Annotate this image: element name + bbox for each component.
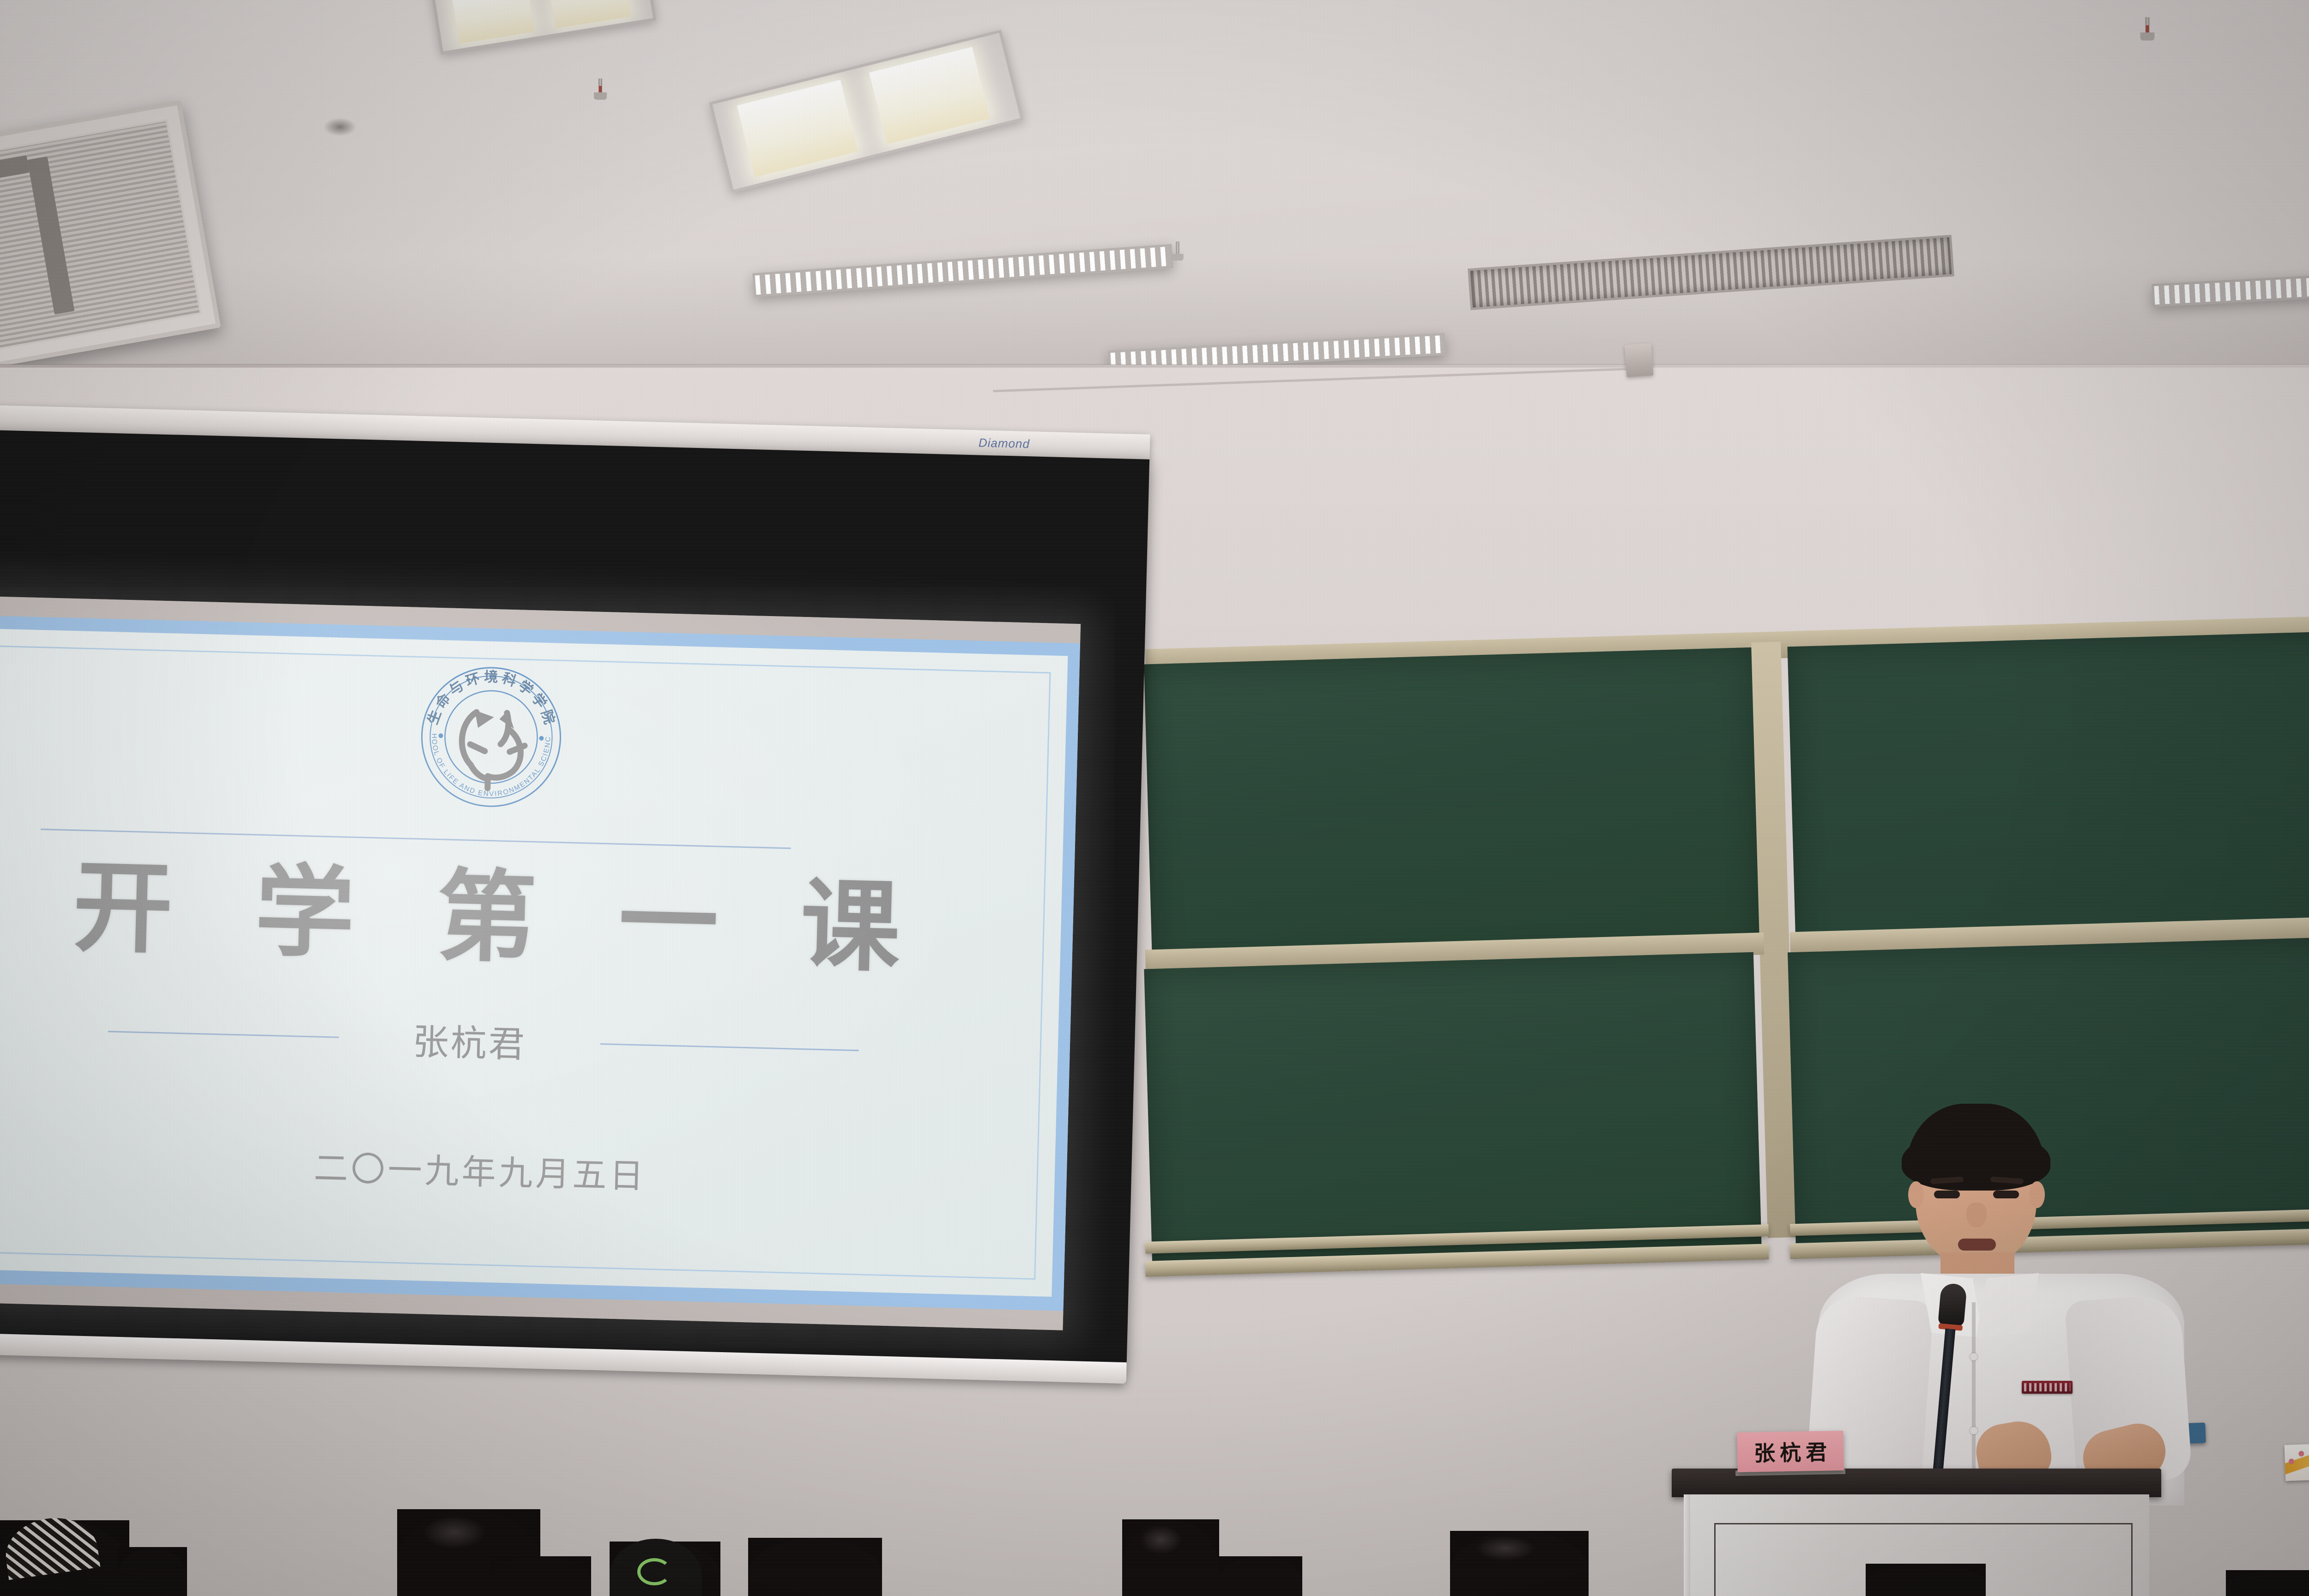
speaker-nose [1966,1203,1987,1227]
wall-ceiling-joint [0,364,2309,368]
hair-highlight [1475,1536,1536,1561]
light-tube [869,47,990,145]
audience-head [118,1547,187,1596]
hair-highlight [423,1516,486,1549]
wall-conduit [1625,343,1654,377]
speaker [1792,1104,2207,1505]
audience-hair [1866,1564,1986,1596]
cap-logo-icon [637,1558,671,1585]
shirt-button [1970,1427,1977,1434]
speaker-mouth [1958,1239,1996,1251]
speaker-badge [2022,1381,2073,1394]
speaker-ear [1908,1181,1924,1208]
audience-head [1122,1519,1219,1596]
audience-head [1219,1556,1302,1596]
school-crest-icon: 生命与环境科学学院 SCHOOL OF LIFE AND ENVIRONMENT… [413,659,569,815]
svg-text:生命与环境科学学院: 生命与环境科学学院 [424,667,560,730]
speaker-ear [2029,1181,2045,1208]
slide-author-row: 张杭君 [0,1010,1070,1072]
chalkboard-panel [1787,630,2309,970]
light-tube [451,0,535,43]
audience-hair [118,1547,187,1596]
projection-screen: Diamond [0,429,1149,1396]
audience-hair [2226,1570,2309,1596]
audience-hair [490,1556,591,1596]
audience-hair [1219,1556,1302,1596]
chalk-box[interactable] [2285,1444,2309,1481]
ceiling-smudge [323,118,357,136]
sprinkler-head [2142,17,2152,46]
chalkboard-panel [1144,952,1761,1265]
shirt-button [1970,1353,1977,1360]
audience-head [1866,1564,1986,1596]
audience-head [2226,1570,2309,1596]
chalk-box-stripe [2285,1454,2309,1475]
chalk-box-dot [2298,1451,2304,1457]
podium-edge [1684,1494,1690,1596]
audience-head [490,1556,591,1596]
badge-text-lines [2024,1383,2070,1391]
hair-highlight [1140,1525,1182,1554]
slide-divider-rule [41,828,791,849]
chalkboard-panel [1144,647,1762,969]
author-rule-left [108,1031,339,1038]
screen-surface: 生命与环境科学学院 SCHOOL OF LIFE AND ENVIRONMENT… [0,429,1149,1364]
microphone-head [1938,1283,1967,1328]
nameplate: 张杭君 [1737,1431,1844,1472]
screen-brand-label: Diamond [979,435,1030,451]
lecture-hall-photo: Diamond [0,0,2309,1596]
speaker-eye [1934,1191,1960,1198]
sprinkler-cap [2140,32,2155,41]
speaker-hair-front [1902,1130,2050,1191]
slide-date: 二〇一九年九月五日 [0,1130,1067,1209]
slide-content: 生命与环境科学学院 SCHOOL OF LIFE AND ENVIRONMENT… [0,594,1081,1330]
audience-head [1450,1531,1589,1596]
slide-title: 开 学 第 一 课 [0,853,1074,982]
author-rule-right [600,1043,859,1051]
sprinkler-head [596,79,605,104]
sprinkler-stem [1176,242,1179,256]
nameplate-text: 张杭君 [1749,1435,1831,1467]
slide-author: 张杭君 [412,1013,527,1068]
audience-head [748,1538,882,1596]
sprinkler-cap [1172,254,1183,260]
sprinkler-head [1173,242,1182,265]
speaker-eye [1993,1191,2019,1198]
sprinkler-cap [594,92,607,100]
light-tube [547,0,631,28]
audience-hair [748,1538,882,1596]
light-tube [737,80,858,177]
ac-grille [0,121,199,359]
presentation-slide: 生命与环境科学学院 SCHOOL OF LIFE AND ENVIRONMENT… [0,594,1081,1330]
